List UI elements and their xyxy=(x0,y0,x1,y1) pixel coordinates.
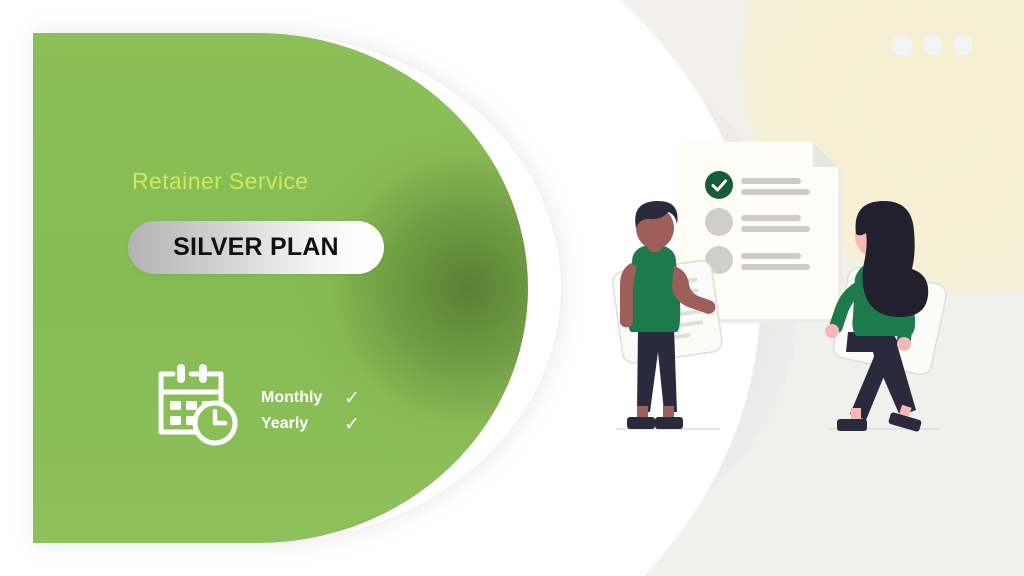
person-left-legs xyxy=(637,328,677,412)
billing-features-block: Monthly ✓ Yearly ✓ xyxy=(151,360,360,448)
billing-option-monthly[interactable]: Monthly ✓ xyxy=(261,389,360,408)
decor-dot-1 xyxy=(893,36,912,55)
person-left-shoe-2 xyxy=(655,417,683,429)
billing-option-monthly-label: Monthly xyxy=(261,389,333,407)
plan-badge-label: SILVER PLAN xyxy=(173,233,339,262)
check-icon: ✓ xyxy=(344,415,360,434)
decor-dots-group xyxy=(893,36,972,55)
person-right-shoe-1 xyxy=(837,419,867,431)
billing-option-yearly[interactable]: Yearly ✓ xyxy=(261,415,360,434)
circle-empty-icon xyxy=(705,208,733,236)
person-left-shoe-1 xyxy=(627,417,655,429)
person-right-hand-front xyxy=(897,337,911,351)
decor-dot-2 xyxy=(923,36,942,55)
poster-canvas: Retainer Service SILVER PLAN xyxy=(0,0,1024,576)
check-circle-filled-icon xyxy=(705,171,733,199)
decor-dot-3 xyxy=(953,36,972,55)
person-right xyxy=(825,201,948,432)
checklist-people-illustration xyxy=(600,120,1004,464)
plan-panel: Retainer Service SILVER PLAN xyxy=(33,33,593,543)
panel-eyebrow-text: Retainer Service xyxy=(132,168,308,195)
billing-options-list: Monthly ✓ Yearly ✓ xyxy=(261,375,360,434)
person-right-hand-back xyxy=(825,324,839,338)
check-icon: ✓ xyxy=(344,389,360,408)
billing-option-yearly-label: Yearly xyxy=(261,415,333,433)
calendar-clock-icon xyxy=(151,360,243,448)
plan-badge[interactable]: SILVER PLAN xyxy=(128,221,384,274)
